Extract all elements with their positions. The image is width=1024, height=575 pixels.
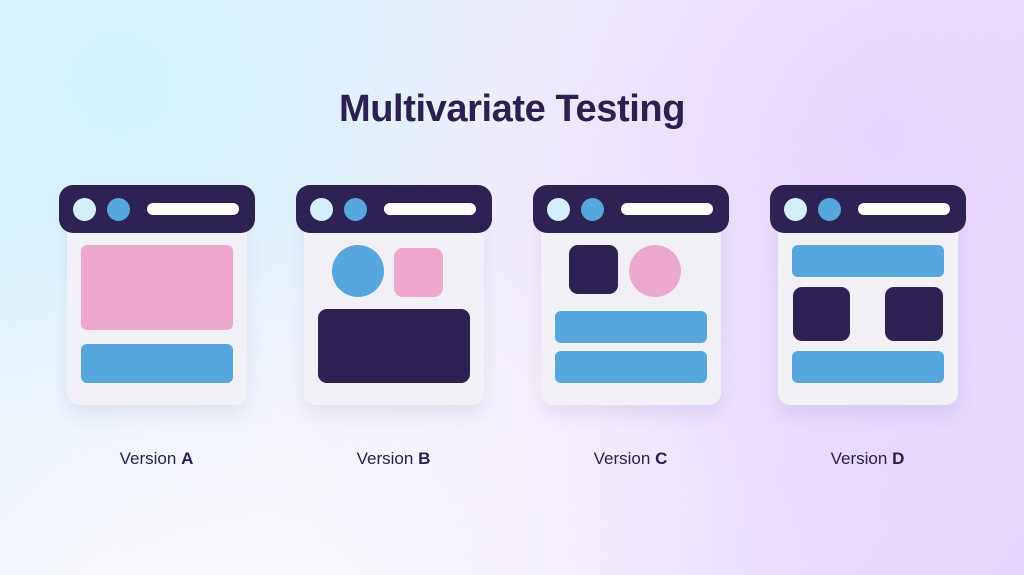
cta-bar-block	[81, 344, 233, 383]
thumbnail-block	[394, 248, 443, 297]
version-card-a[interactable]: Version A	[59, 185, 255, 469]
browser-mockup	[770, 185, 966, 407]
page-wireframe-thumb-avatar-list	[555, 245, 707, 393]
avatar-circle-block	[332, 245, 384, 297]
page-wireframe-banner-split-banner	[792, 245, 944, 393]
list-row-two-block	[555, 351, 707, 383]
version-card-c[interactable]: Version C	[533, 185, 729, 469]
version-card-d[interactable]: Version D	[770, 185, 966, 469]
browser-title-bar	[59, 185, 255, 233]
hero-image-block	[81, 245, 233, 330]
window-dot-blue-icon[interactable]	[107, 198, 130, 221]
version-card-row: Version AVersion BVersion CVersion D	[0, 185, 1024, 469]
window-dot-pale-icon[interactable]	[310, 198, 333, 221]
window-dot-pale-icon[interactable]	[784, 198, 807, 221]
version-caption-letter: D	[892, 449, 904, 468]
browser-mockup	[59, 185, 255, 407]
slide-canvas: Multivariate Testing Version AVersion BV…	[0, 0, 1024, 575]
window-dot-pale-icon[interactable]	[547, 198, 570, 221]
list-row-one-block	[555, 311, 707, 343]
thumbnail-block	[569, 245, 618, 294]
window-dot-blue-icon[interactable]	[818, 198, 841, 221]
page-title: Multivariate Testing	[0, 88, 1024, 131]
address-bar-pill[interactable]	[621, 203, 713, 215]
browser-title-bar	[533, 185, 729, 233]
page-wireframe-hero-banner	[81, 245, 233, 393]
right-tile-block	[885, 287, 943, 341]
version-card-b[interactable]: Version B	[296, 185, 492, 469]
browser-mockup	[296, 185, 492, 407]
window-dot-blue-icon[interactable]	[581, 198, 604, 221]
version-caption: Version C	[594, 449, 668, 469]
address-bar-pill[interactable]	[384, 203, 476, 215]
page-wireframe-avatar-thumb-panel	[318, 245, 470, 393]
version-caption-prefix: Version	[357, 449, 414, 468]
browser-mockup	[533, 185, 729, 407]
content-panel-block	[318, 309, 470, 383]
version-caption: Version D	[831, 449, 905, 469]
browser-title-bar	[296, 185, 492, 233]
address-bar-pill[interactable]	[858, 203, 950, 215]
version-caption: Version B	[357, 449, 431, 469]
left-tile-block	[793, 287, 850, 341]
browser-title-bar	[770, 185, 966, 233]
window-dot-blue-icon[interactable]	[344, 198, 367, 221]
version-caption: Version A	[120, 449, 194, 469]
top-banner-block	[792, 245, 944, 277]
avatar-circle-block	[629, 245, 681, 297]
version-caption-prefix: Version	[594, 449, 651, 468]
version-caption-prefix: Version	[120, 449, 177, 468]
version-caption-letter: C	[655, 449, 667, 468]
window-dot-pale-icon[interactable]	[73, 198, 96, 221]
version-caption-letter: B	[418, 449, 430, 468]
version-caption-prefix: Version	[831, 449, 888, 468]
version-caption-letter: A	[181, 449, 193, 468]
address-bar-pill[interactable]	[147, 203, 239, 215]
bottom-banner-block	[792, 351, 944, 383]
